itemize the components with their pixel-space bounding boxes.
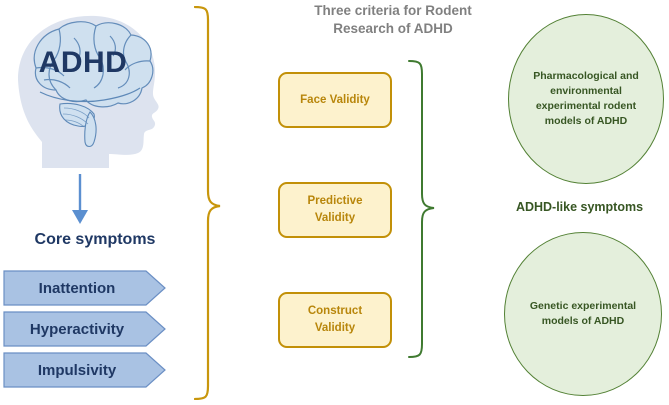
criteria-box-line-2: Validity [308,320,362,337]
criteria-box-line-1: Predictive [308,193,363,210]
model-circle-genetic[interactable]: Genetic experimental models of ADHD [504,232,662,396]
criteria-box-line-1: Face Validity [300,92,370,109]
criteria-box-line-1: Construct [308,303,362,320]
model-circle-pharmacological[interactable]: Pharmacological and environmental experi… [508,14,664,184]
right-curly-brace-icon [408,60,436,358]
criteria-box-text: Face Validity [300,92,370,109]
symptom-chevron-impulsivity: Impulsivity [3,352,166,388]
model-circle-line-4: models of ADHD [523,114,649,129]
symptom-label: Hyperactivity [3,311,151,347]
criteria-title: Three criteria for Rodent Research of AD… [248,2,538,38]
model-circle-line-1: Genetic experimental [519,299,647,314]
symptom-label: Impulsivity [3,352,151,388]
symptom-label: Inattention [3,270,151,306]
criteria-box-construct-validity[interactable]: Construct Validity [278,292,392,348]
left-curly-brace-icon [194,6,224,400]
down-arrow-icon [60,174,100,226]
diagram-canvas: ADHD Core symptoms Inattention Hyperacti… [0,0,669,405]
criteria-box-face-validity[interactable]: Face Validity [278,72,392,128]
criteria-box-predictive-validity[interactable]: Predictive Validity [278,182,392,238]
adhd-like-symptoms-label: ADHD-like symptoms [490,200,669,214]
criteria-box-text: Predictive Validity [308,193,363,226]
model-circle-line-2: environmental [523,84,649,99]
model-circle-text: Genetic experimental models of ADHD [519,299,647,329]
criteria-box-text: Construct Validity [308,303,362,336]
criteria-box-line-2: Validity [308,210,363,227]
symptom-chevron-inattention: Inattention [3,270,166,306]
criteria-title-line-2: Research of ADHD [248,20,538,38]
model-circle-line-1: Pharmacological and [523,69,649,84]
symptom-chevron-hyperactivity: Hyperactivity [3,311,166,347]
model-circle-line-2: models of ADHD [519,314,647,329]
brain-label-adhd: ADHD [18,48,148,78]
model-circle-text: Pharmacological and environmental experi… [523,69,649,130]
head-silhouette-with-brain-icon [4,8,186,176]
model-circle-line-3: experimental rodent [523,99,649,114]
core-symptoms-heading: Core symptoms [0,231,190,249]
criteria-title-line-1: Three criteria for Rodent [248,2,538,20]
